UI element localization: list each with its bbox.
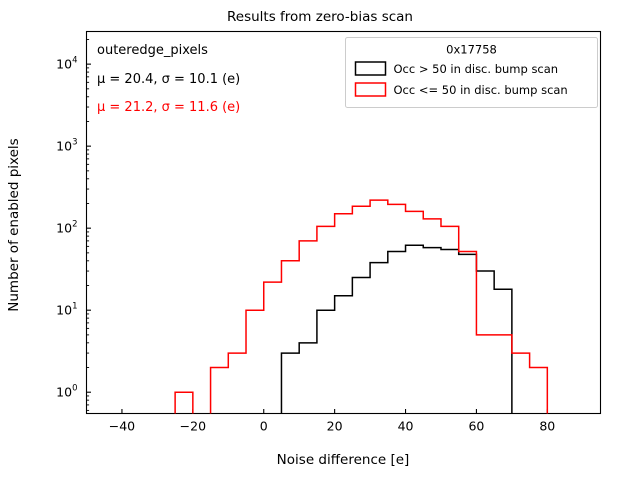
annotation-line-2: μ = 21.2, σ = 11.6 (e) — [97, 100, 240, 115]
x-tick-label: 60 — [468, 419, 484, 434]
x-tick-label: 0 — [260, 419, 268, 434]
stats-annotation: outeredge_pixelsμ = 20.4, σ = 10.1 (e)μ … — [97, 43, 240, 115]
histogram-step-red — [175, 200, 547, 413]
y-axis-ticks: 100101102103104 — [56, 56, 91, 400]
y-tick-label: 100 — [56, 384, 77, 400]
legend-title: 0x17758 — [446, 43, 497, 57]
y-tick-label: 103 — [56, 138, 77, 154]
x-tick-label: 80 — [539, 419, 555, 434]
histogram-step-black — [281, 245, 511, 413]
y-tick-label: 102 — [56, 220, 77, 236]
y-axis-label: Number of enabled pixels — [6, 138, 22, 311]
x-tick-label: 40 — [398, 419, 414, 434]
histogram-series — [175, 200, 547, 413]
x-tick-label: −20 — [180, 419, 206, 434]
annotation-line-0: outeredge_pixels — [97, 43, 208, 58]
legend-label-1: Occ <= 50 in disc. bump scan — [394, 83, 568, 97]
chart-svg: Results from zero-bias scan Number of en… — [0, 0, 640, 480]
x-axis-label: Noise difference [e] — [277, 452, 410, 468]
chart-title: Results from zero-bias scan — [227, 9, 413, 25]
y-tick-label: 101 — [56, 302, 77, 318]
legend-label-0: Occ > 50 in disc. bump scan — [394, 62, 559, 76]
x-tick-label: 20 — [327, 419, 343, 434]
x-tick-label: −40 — [109, 419, 135, 434]
y-tick-label: 104 — [56, 56, 77, 72]
annotation-line-1: μ = 20.4, σ = 10.1 (e) — [97, 72, 240, 87]
figure-canvas: Results from zero-bias scan Number of en… — [0, 0, 640, 480]
chart-legend[interactable]: 0x17758Occ > 50 in disc. bump scanOcc <=… — [346, 38, 598, 108]
